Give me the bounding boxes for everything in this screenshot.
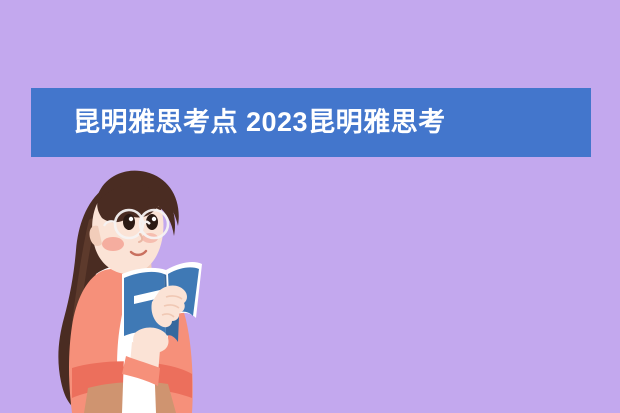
eye-left-glint	[129, 217, 133, 221]
page-title: 昆明雅思考点 2023昆明雅思考	[31, 109, 446, 136]
title-banner: 昆明雅思考点 2023昆明雅思考	[31, 88, 591, 157]
eye-right-glint	[152, 217, 156, 221]
eye-left-shape	[123, 214, 135, 230]
cheek-blush-shape	[102, 237, 124, 251]
page-canvas: 昆明雅思考点 2023昆明雅思考	[0, 0, 620, 413]
girl-reading-book-illustration	[0, 150, 310, 413]
